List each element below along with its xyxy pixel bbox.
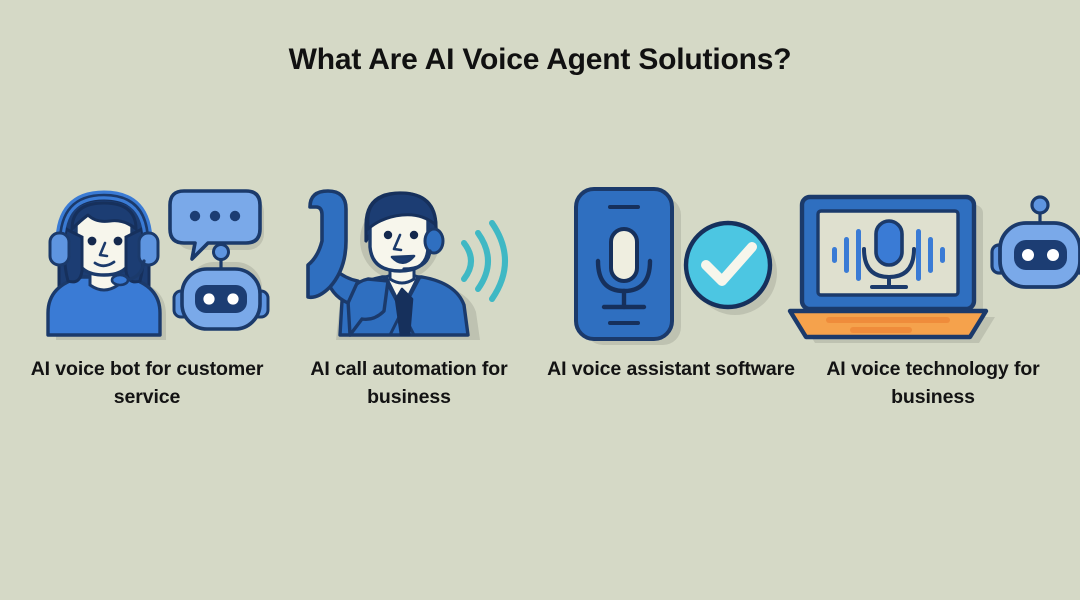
card-ai-call-automation: AI call automation for business (280, 185, 538, 412)
card-ai-voice-bot: AI voice bot for customer service (18, 185, 276, 412)
card-caption: AI voice assistant software (546, 355, 796, 383)
card-caption: AI call automation for business (284, 355, 534, 412)
page-title: What Are AI Voice Agent Solutions? (260, 38, 820, 82)
illustration-voice-technology (804, 185, 1062, 345)
infographic-canvas: What Are AI Voice Agent Solutions? (0, 0, 1080, 600)
sound-waves-icon (464, 223, 505, 299)
robot-head-icon (992, 197, 1080, 287)
check-circle-icon (686, 223, 770, 307)
robot-head-icon (174, 245, 268, 330)
card-caption: AI voice bot for customer service (22, 355, 272, 412)
illustration-call-automation (280, 185, 538, 345)
card-ai-voice-assistant: AI voice assistant software (542, 185, 800, 383)
illustration-voice-assistant (542, 185, 800, 345)
headset-agent-icon (48, 195, 160, 335)
card-row: AI voice bot for customer service (0, 185, 1080, 412)
laptop-microphone-icon (790, 197, 986, 337)
card-ai-voice-technology: AI voice technology for business (804, 185, 1062, 412)
smartphone-microphone-icon (576, 189, 672, 339)
card-caption: AI voice technology for business (805, 355, 1061, 412)
illustration-headset-agent (18, 185, 276, 345)
